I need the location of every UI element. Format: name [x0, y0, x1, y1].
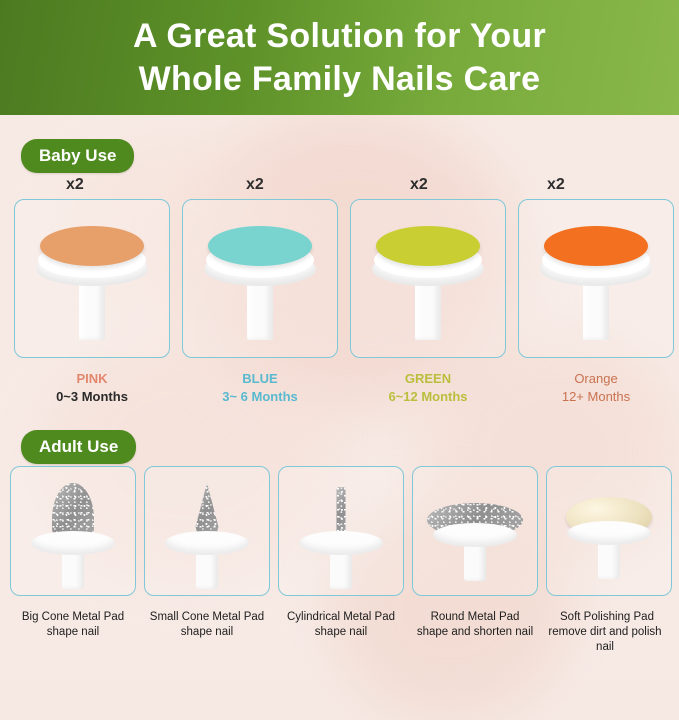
bit-pad-orange-icon	[544, 226, 648, 266]
baby-quantity-row: x2 x2 x2 x2	[0, 176, 679, 198]
bit-pad-blue-icon	[208, 226, 312, 266]
adult-card-cylindrical[interactable]	[278, 466, 404, 596]
baby-card-blue[interactable]	[182, 199, 338, 358]
adult-label-3-line1: Cylindrical Metal Pad	[274, 610, 408, 625]
adult-label-1-line2: shape nail	[6, 625, 140, 640]
bit-pad-green-icon	[376, 226, 480, 266]
baby-label-pink-name: PINK	[14, 370, 170, 388]
bit-base-icon	[567, 521, 651, 545]
adult-label-1-line1: Big Cone Metal Pad	[6, 610, 140, 625]
adult-card-soft-pad[interactable]	[546, 466, 672, 596]
baby-card-green[interactable]	[350, 199, 506, 358]
adult-label-2-line1: Small Cone Metal Pad	[140, 610, 274, 625]
baby-label-orange-name: Orange	[518, 370, 674, 388]
baby-qty-1: x2	[66, 176, 84, 194]
baby-qty-4: x2	[547, 176, 565, 194]
bit-base-icon	[165, 531, 249, 555]
adult-label-2-line2: shape nail	[140, 625, 274, 640]
bit-base-icon	[299, 531, 383, 555]
adult-label-5-line1: Soft Polishing Pad	[540, 610, 674, 625]
section-badge-baby: Baby Use	[21, 139, 134, 173]
bit-pad-pink-icon	[40, 226, 144, 266]
baby-card-orange[interactable]	[518, 199, 674, 358]
baby-label-green-name: GREEN	[350, 370, 506, 388]
adult-label-3-line2: shape nail	[274, 625, 408, 640]
baby-label-blue-age: 3~ 6 Months	[182, 388, 338, 406]
adult-label-4-line2: shape and shorten nail	[408, 625, 542, 640]
header-banner: A Great Solution for Your Whole Family N…	[0, 0, 679, 115]
bit-base-icon	[31, 531, 115, 555]
section-badge-adult: Adult Use	[21, 430, 136, 464]
baby-product-grid	[14, 199, 674, 358]
baby-qty-3: x2	[410, 176, 428, 194]
adult-product-grid	[10, 466, 672, 596]
baby-card-pink[interactable]	[14, 199, 170, 358]
adult-card-big-cone[interactable]	[10, 466, 136, 596]
adult-card-round-disc[interactable]	[412, 466, 538, 596]
baby-label-orange-age: 12+ Months	[518, 388, 674, 406]
baby-label-green-age: 6~12 Months	[350, 388, 506, 406]
product-infographic: A Great Solution for Your Whole Family N…	[0, 0, 679, 679]
header-title-line1: A Great Solution for Your	[133, 15, 546, 58]
adult-label-4-line1: Round Metal Pad	[408, 610, 542, 625]
adult-label-5-line2: remove dirt and polish nail	[538, 625, 672, 655]
baby-qty-2: x2	[246, 176, 264, 194]
bit-base-icon	[433, 523, 517, 547]
header-title-line2: Whole Family Nails Care	[139, 58, 541, 101]
baby-label-blue-name: BLUE	[182, 370, 338, 388]
adult-card-small-cone[interactable]	[144, 466, 270, 596]
baby-label-pink-age: 0~3 Months	[14, 388, 170, 406]
